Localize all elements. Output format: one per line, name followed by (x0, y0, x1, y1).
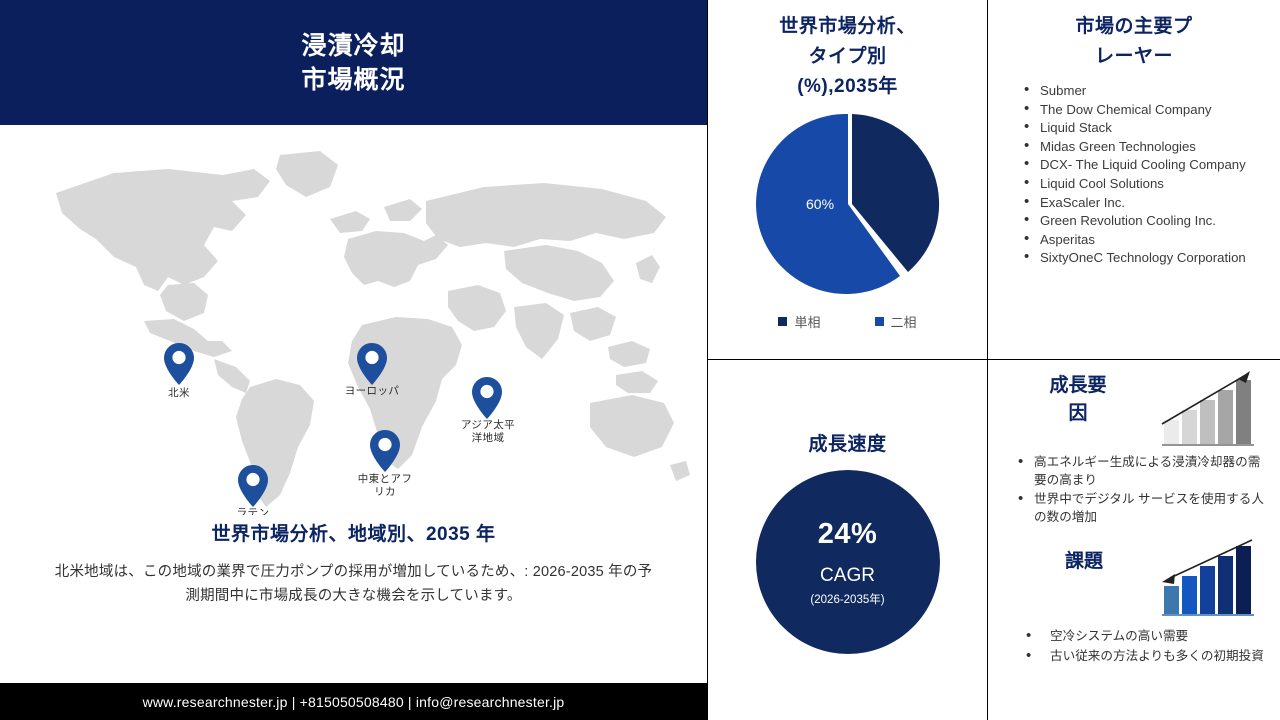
map-pin-label-middle-east-africa: 中東とアフ リカ (347, 473, 423, 499)
list-item: Liquid Cool Solutions (1024, 175, 1264, 194)
map-pin-latin-america[interactable] (236, 463, 270, 509)
list-item: ExaScaler Inc. (1024, 194, 1264, 213)
cagr-value: 24% (818, 518, 878, 551)
players-panel-title-line-2: レーヤー (988, 42, 1280, 72)
growth-bar-chart-svg (1158, 366, 1258, 448)
growth-panel-title: 成長要 因 (1032, 372, 1124, 428)
map-pin-label-asia-pacific: アジア太平 洋地域 (450, 419, 526, 445)
list-item: 世界中でデジタル サービスを使用する人の数の増加 (1016, 491, 1266, 526)
challenges-list: 空冷システムの高い需要 古い従来の方法よりも多くの初期投資 (1016, 628, 1266, 665)
location-pin-icon (236, 463, 270, 509)
panel-growth-factors-and-challenges: 成長要 因 高エネルギー生成に (987, 360, 1280, 720)
list-item: 空冷システムの高い需要 (1016, 628, 1266, 646)
challenges-header: 課題 (988, 534, 1280, 626)
bar-5 (1236, 546, 1251, 614)
legend-swatch-single-phase (778, 317, 787, 326)
growth-factors-header: 成長要 因 (988, 360, 1280, 452)
list-item: Liquid Stack (1024, 119, 1264, 138)
list-item: Green Revolution Cooling Inc. (1024, 212, 1264, 231)
hero-header: 浸漬冷却 市場概況 (0, 0, 707, 125)
pie-panel-title: 世界市場分析、 タイプ別 (%),2035年 (708, 0, 987, 102)
legend-label-single-phase: 単相 (794, 312, 820, 331)
panel-market-analysis-by-type: 世界市場分析、 タイプ別 (%),2035年 60% 単相 (707, 0, 987, 360)
left-column: 浸漬冷却 市場概況 (0, 0, 707, 720)
pie-chart-svg: 60% (708, 104, 987, 304)
growth-factors-list: 高エネルギー生成による浸漬冷却器の需要の高まり 世界中でデジタル サービスを使用… (1016, 454, 1266, 526)
bar-4 (1218, 556, 1233, 614)
growth-panel-title-line-1: 成長要 (1032, 372, 1124, 400)
panel-growth-rate: 成長速度 24% CAGR (2026-2035年) (707, 360, 987, 720)
hero-title-line-1: 浸漬冷却 (301, 29, 405, 63)
map-pin-label-europe: ヨーロッパ (332, 385, 412, 398)
map-pin-label-latin-america: ラテン アメリ カ (224, 507, 282, 515)
list-item: Midas Green Technologies (1024, 138, 1264, 157)
infographic-page: 浸漬冷却 市場概況 (0, 0, 1280, 720)
panel-key-players: 市場の主要プ レーヤー Submer The Dow Chemical Comp… (987, 0, 1280, 360)
world-map-svg (18, 135, 690, 515)
list-item: SixtyOneC Technology Corporation (1024, 249, 1264, 268)
growth-panel-title-line-2: 因 (1032, 400, 1124, 428)
key-players-list: Submer The Dow Chemical Company Liquid S… (1024, 82, 1264, 268)
cagr-period: (2026-2035年) (810, 591, 884, 607)
cagr-circle: 24% CAGR (2026-2035年) (756, 470, 940, 654)
challenges-bar-chart (1158, 536, 1258, 623)
pie-panel-title-line-2: タイプ別 (708, 42, 987, 72)
location-pin-icon (368, 428, 402, 474)
location-pin-icon (470, 375, 504, 421)
right-panel-grid: 世界市場分析、 タイプ別 (%),2035年 60% 単相 (707, 0, 1280, 720)
list-item: DCX- The Liquid Cooling Company (1024, 156, 1264, 175)
legend-item-single-phase[interactable]: 単相 (778, 312, 820, 331)
pie-slice-value-label: 60% (806, 196, 834, 212)
bar-3 (1200, 400, 1215, 444)
pie-panel-title-line-1: 世界市場分析、 (708, 12, 987, 42)
map-pin-asia-pacific[interactable] (470, 375, 504, 421)
list-item: Asperitas (1024, 231, 1264, 250)
map-caption-body: 北米地域は、この地域の業界で圧力ポンプの採用が増加しているため、: 2026-2… (0, 546, 707, 608)
map-pin-north-america[interactable] (162, 341, 196, 387)
bar-3 (1200, 566, 1215, 614)
map-pin-label-north-america: 北米 (139, 387, 219, 400)
challenges-bar-chart-svg (1158, 536, 1258, 618)
pie-panel-title-line-3: (%),2035年 (708, 72, 987, 102)
legend-label-dual-phase: 二相 (891, 312, 917, 331)
footer-bar: www.researchnester.jp | +815050508480 | … (0, 683, 707, 720)
list-item: 高エネルギー生成による浸漬冷却器の需要の高まり (1016, 454, 1266, 489)
hero-title-line-2: 市場概況 (301, 63, 405, 97)
bar-4 (1218, 390, 1233, 444)
bar-1 (1164, 420, 1179, 444)
players-panel-title-line-1: 市場の主要プ (988, 12, 1280, 42)
list-item: 古い従来の方法よりも多くの初期投資 (1016, 648, 1266, 666)
footer-contact-text: www.researchnester.jp | +815050508480 | … (143, 694, 565, 710)
challenge-panel-title: 課題 (1038, 548, 1130, 576)
players-panel-title: 市場の主要プ レーヤー (988, 0, 1280, 72)
bar-2 (1182, 576, 1197, 614)
pie-chart: 60% (708, 104, 987, 304)
list-item: The Dow Chemical Company (1024, 101, 1264, 120)
legend-swatch-dual-phase (875, 317, 884, 326)
map-pin-middle-east-africa[interactable] (368, 428, 402, 474)
location-pin-icon (355, 341, 389, 387)
map-caption-title: 世界市場分析、地域別、2035 年 (0, 519, 707, 546)
arrow-down-icon (1162, 574, 1175, 584)
bar-5 (1236, 380, 1251, 444)
map-pin-europe[interactable] (355, 341, 389, 387)
location-pin-icon (162, 341, 196, 387)
bar-2 (1182, 410, 1197, 444)
world-map: 北米 ヨーロッパ アジア太平 洋地域 (0, 125, 707, 515)
pie-legend: 単相 二相 (708, 312, 987, 331)
list-item: Submer (1024, 82, 1264, 101)
cagr-panel-title: 成長速度 (708, 418, 987, 460)
cagr-label: CAGR (820, 565, 875, 587)
legend-item-dual-phase[interactable]: 二相 (875, 312, 917, 331)
growth-bar-chart (1158, 366, 1258, 453)
bar-1 (1164, 586, 1179, 614)
